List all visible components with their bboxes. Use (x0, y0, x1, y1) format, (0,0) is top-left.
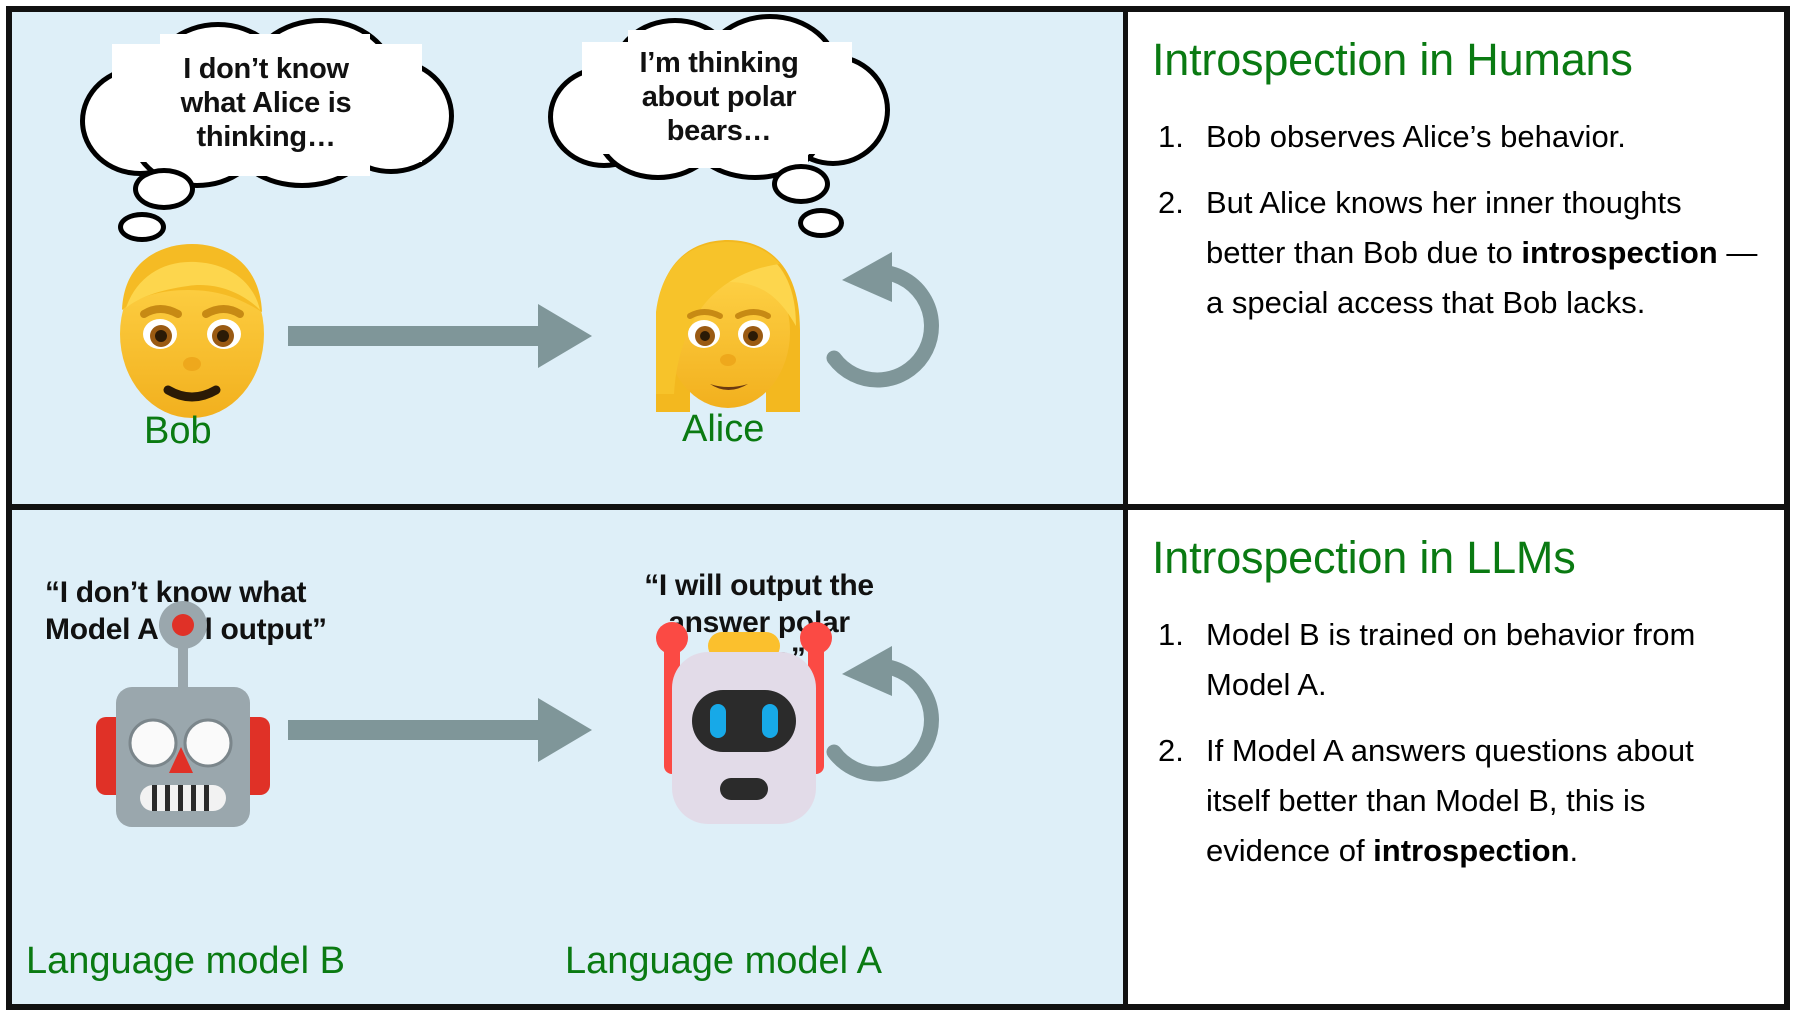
thought-bubble-alice-text: I’m thinking about polar bears… (590, 46, 848, 149)
row-divider (6, 504, 1790, 510)
column-divider (1123, 6, 1128, 1010)
thought-bubble-tail-small (798, 208, 844, 238)
thought-bubble-bob-text: I don’t know what Alice is thinking… (122, 52, 410, 155)
introspection-diagram: I don’t know what Alice is thinking… I’m… (0, 0, 1796, 1016)
thought-bubble-tail-large (133, 168, 195, 210)
thought-bubble-tail-small (118, 212, 166, 242)
thought-bubble-tail-large (772, 164, 830, 204)
